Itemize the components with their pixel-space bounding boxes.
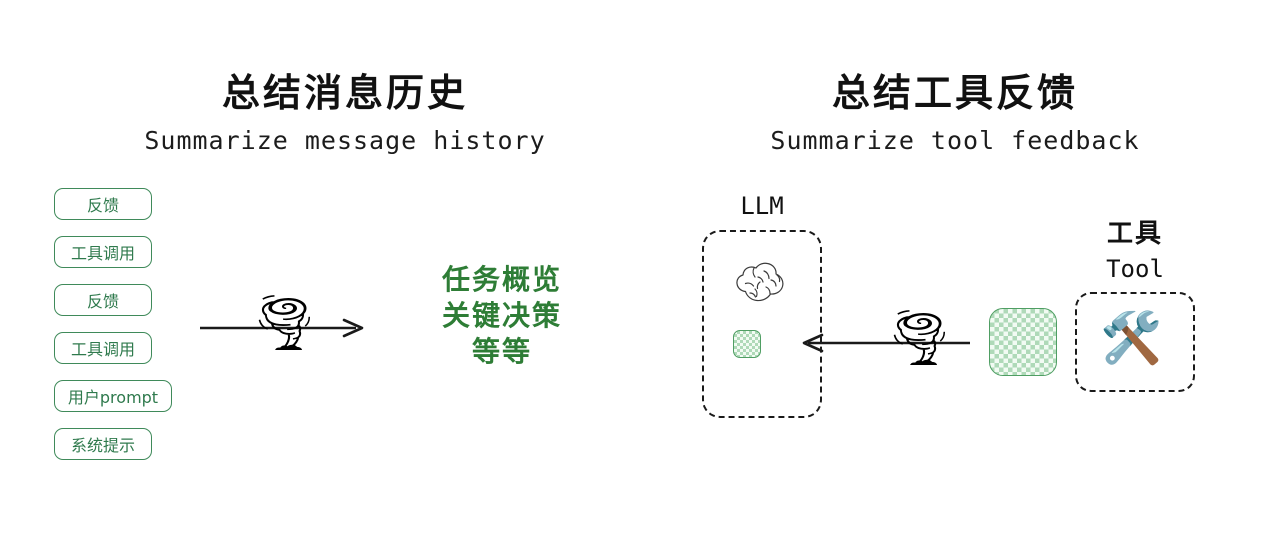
summary-line-3: 等等 bbox=[412, 334, 592, 370]
hammer-and-wrench-icon: 🛠️ bbox=[1100, 313, 1162, 363]
tool-output-chunk-icon bbox=[989, 308, 1057, 376]
tool-label-chinese: 工具 bbox=[1075, 213, 1195, 250]
context-chunk-icon bbox=[733, 330, 761, 358]
summary-line-1: 任务概览 bbox=[412, 262, 592, 298]
tornado-icon: 🌪 bbox=[250, 296, 319, 350]
message-box-feedback-1[interactable]: 反馈 bbox=[54, 188, 152, 220]
tornado-icon: 🌪 bbox=[885, 311, 954, 365]
message-box-system-prompt[interactable]: 系统提示 bbox=[54, 428, 152, 460]
summary-output-text: 任务概览 关键决策 等等 bbox=[412, 262, 592, 370]
message-box-tool-call-1[interactable]: 工具调用 bbox=[54, 236, 152, 268]
message-box-tool-call-2[interactable]: 工具调用 bbox=[54, 332, 152, 364]
diagram-canvas: 总结消息历史 Summarize message history 反馈 工具调用… bbox=[0, 0, 1280, 551]
llm-label: LLM bbox=[702, 192, 822, 220]
message-box-user-prompt[interactable]: 用户prompt bbox=[54, 380, 172, 412]
summary-line-2: 关键决策 bbox=[412, 298, 592, 334]
left-title-english: Summarize message history bbox=[120, 126, 570, 155]
tool-label-english: Tool bbox=[1075, 255, 1195, 283]
right-title-english: Summarize tool feedback bbox=[730, 126, 1180, 155]
left-title-chinese: 总结消息历史 bbox=[120, 62, 570, 117]
right-title-chinese: 总结工具反馈 bbox=[730, 62, 1180, 117]
message-box-feedback-2[interactable]: 反馈 bbox=[54, 284, 152, 316]
brain-icon bbox=[728, 256, 792, 308]
